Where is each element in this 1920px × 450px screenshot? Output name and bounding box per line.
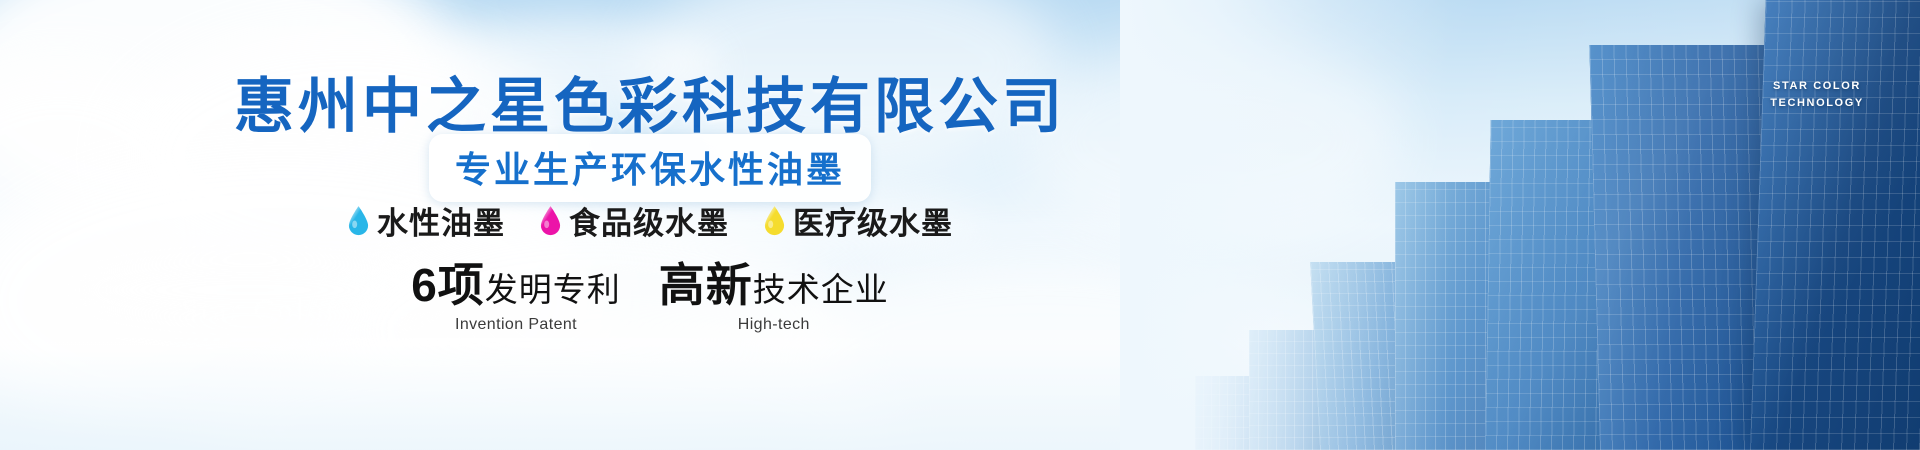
achievement-badge: 高新技术企业High-tech (659, 262, 889, 334)
banner-content: 惠州中之星色彩科技有限公司 专业生产环保水性油墨 水性油墨 食品级水墨 医疗级水… (0, 0, 1300, 450)
badge-chinese: 高新技术企业 (659, 262, 889, 313)
achievement-badge: 6项发明专利Invention Patent (411, 262, 621, 334)
feature-item: 食品级水墨 (539, 198, 729, 243)
water-drop-icon (539, 205, 562, 236)
page-title: 惠州中之星色彩科技有限公司 (0, 58, 1300, 145)
feature-item: 水性油墨 (347, 198, 505, 243)
badge-highlight: 高新 (659, 259, 753, 311)
badge-chinese: 6项发明专利 (411, 262, 621, 313)
subtitle-pill: 专业生产环保水性油墨 (429, 134, 871, 202)
building-brand-label: STAR COLOR TECHNOLOGY (1742, 78, 1892, 112)
feature-label: 水性油墨 (377, 198, 505, 243)
building-brand-line2: TECHNOLOGY (1742, 95, 1892, 112)
badge-list: 6项发明专利Invention Patent高新技术企业High-tech (0, 262, 1300, 334)
badge-detail: 发明专利 (485, 271, 621, 308)
water-drop-icon (347, 205, 370, 236)
promo-banner: STAR COLOR TECHNOLOGY Star Color 惠州中之星色彩… (0, 0, 1920, 450)
badge-english: High-tech (659, 316, 889, 334)
badge-english: Invention Patent (411, 316, 621, 334)
feature-item: 医疗级水墨 (763, 198, 953, 243)
feature-label: 食品级水墨 (569, 198, 729, 243)
badge-detail: 技术企业 (753, 271, 889, 308)
building-brand-line1: STAR COLOR (1742, 78, 1892, 95)
feature-list: 水性油墨 食品级水墨 医疗级水墨 (0, 198, 1300, 243)
badge-highlight: 6项 (411, 259, 485, 311)
feature-label: 医疗级水墨 (793, 198, 953, 243)
subtitle-text: 专业生产环保水性油墨 (455, 141, 845, 193)
water-drop-icon (763, 205, 786, 236)
